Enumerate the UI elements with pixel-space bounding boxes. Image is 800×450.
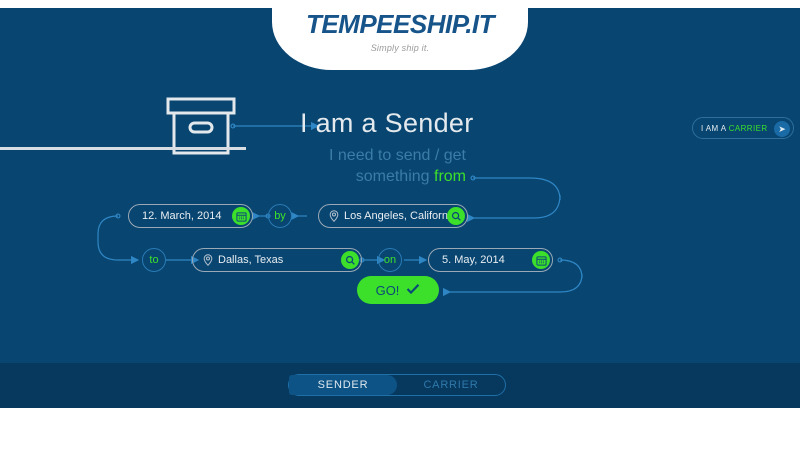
- origin-location-value: Los Angeles, California: [344, 210, 457, 222]
- header-corner-left: [234, 8, 274, 70]
- arrow-right-icon[interactable]: ➤: [774, 121, 790, 137]
- calendar-icon[interactable]: [532, 251, 550, 269]
- site-logo[interactable]: TEMPEESHIP.IT Simply ship it.: [272, 0, 528, 70]
- search-icon[interactable]: [447, 207, 465, 225]
- subtitle-line1: I need to send / get: [329, 147, 466, 164]
- go-button-label: GO!: [376, 283, 400, 298]
- header-corner-right: [526, 8, 566, 70]
- main-stage: I am a Sender I need to send / get somet…: [0, 70, 800, 363]
- search-icon[interactable]: [341, 251, 359, 269]
- connector-by: by: [268, 204, 292, 228]
- switch-to-carrier-button[interactable]: I AM A CARRIER ➤: [692, 117, 794, 139]
- page-subtitle: I need to send / get something from: [260, 145, 466, 187]
- connector-on: on: [378, 248, 402, 272]
- connector-to: to: [142, 248, 166, 272]
- pickup-date-field[interactable]: 12. March, 2014: [128, 204, 253, 228]
- map-pin-icon: [203, 254, 213, 266]
- box-ground-line: [0, 147, 246, 150]
- delivery-date-value: 5. May, 2014: [442, 254, 505, 266]
- carrier-switch-label: I AM A CARRIER: [701, 124, 768, 133]
- subtitle-highlight: from: [434, 168, 466, 185]
- page-title: I am a Sender: [300, 108, 500, 139]
- logo-tagline: Simply ship it.: [272, 43, 528, 53]
- map-pin-icon: [329, 210, 339, 222]
- check-icon: [406, 283, 420, 298]
- role-toggle[interactable]: SENDER CARRIER: [288, 374, 506, 396]
- origin-location-field[interactable]: Los Angeles, California: [318, 204, 468, 228]
- toggle-option-carrier[interactable]: CARRIER: [397, 375, 505, 395]
- logo-title: TEMPEESHIP.IT: [272, 9, 528, 40]
- destination-location-field[interactable]: Dallas, Texas: [192, 248, 362, 272]
- subtitle-line2: something: [356, 168, 434, 185]
- toggle-option-sender[interactable]: SENDER: [289, 375, 397, 395]
- pickup-date-value: 12. March, 2014: [142, 210, 222, 222]
- calendar-icon[interactable]: [232, 207, 250, 225]
- page-root: TEMPEESHIP.IT Simply ship it.: [0, 0, 800, 450]
- destination-location-value: Dallas, Texas: [218, 254, 283, 266]
- footer-bar: SENDER CARRIER: [0, 363, 800, 408]
- go-submit-button[interactable]: GO!: [357, 276, 439, 304]
- page-bottom-area: [0, 408, 800, 450]
- delivery-date-field[interactable]: 5. May, 2014: [428, 248, 553, 272]
